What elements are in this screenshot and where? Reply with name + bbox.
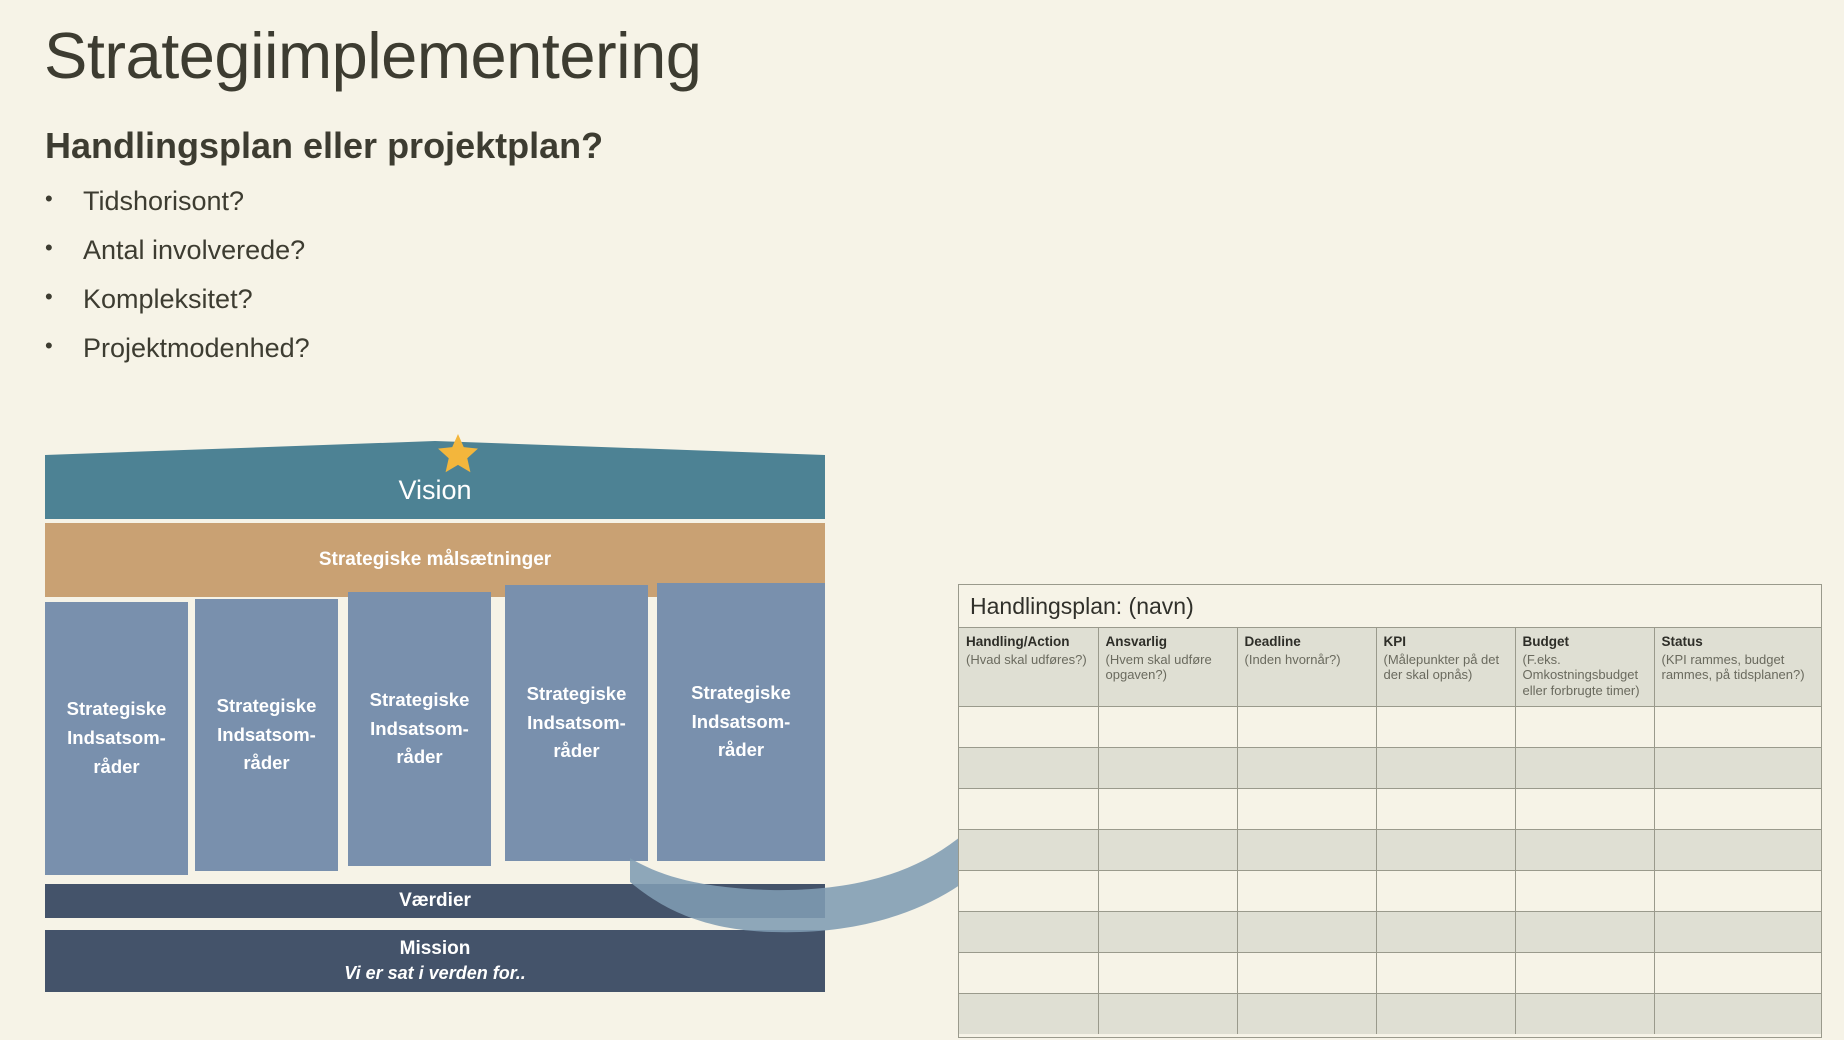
strategy-house-diagram: Vision Strategiske målsætninger Strategi…: [45, 441, 825, 1036]
table-cell[interactable]: [1654, 830, 1821, 871]
list-item-label: Tidshorisont?: [83, 185, 244, 217]
column-title: KPI: [1384, 633, 1509, 651]
table-row[interactable]: [959, 994, 1821, 1035]
mission-subtext: Vi er sat i verden for..: [344, 962, 525, 985]
table-cell[interactable]: [1654, 707, 1821, 748]
table-cell[interactable]: [1237, 994, 1376, 1035]
table-cell[interactable]: [1098, 748, 1237, 789]
pillar-1: StrategiskeIndsatsom-råder: [45, 602, 188, 875]
column-hint: (KPI rammes, budget rammes, på tidsplane…: [1662, 652, 1816, 684]
table-cell[interactable]: [1098, 953, 1237, 994]
table-cell[interactable]: [1515, 994, 1654, 1035]
bullet-marker-icon: •: [45, 332, 83, 360]
table-cell[interactable]: [1515, 953, 1654, 994]
table-cell[interactable]: [1376, 748, 1515, 789]
table-cell[interactable]: [1098, 830, 1237, 871]
table-cell[interactable]: [1654, 994, 1821, 1035]
table-body: [959, 707, 1821, 1035]
bullet-list: • Tidshorisont? • Antal involverede? • K…: [45, 185, 685, 381]
pillar-label: StrategiskeIndsatsom-råder: [370, 686, 470, 772]
table-cell[interactable]: [1237, 789, 1376, 830]
table-cell[interactable]: [1654, 912, 1821, 953]
table-cell[interactable]: [959, 789, 1098, 830]
table-cell[interactable]: [1515, 707, 1654, 748]
table-row[interactable]: [959, 748, 1821, 789]
column-header-handling: Handling/Action (Hvad skal udføres?): [959, 628, 1098, 707]
column-title: Status: [1662, 633, 1816, 651]
mission-label: Mission: [400, 937, 471, 961]
plan-title: Handlingsplan: (navn): [959, 585, 1821, 628]
page-title: Strategiimplementering: [44, 22, 701, 91]
column-header-kpi: KPI (Målepunkter på det der skal opnås): [1376, 628, 1515, 707]
table-cell[interactable]: [1237, 707, 1376, 748]
pillar-5: StrategiskeIndsatsom-råder: [657, 583, 825, 861]
list-item-label: Projektmodenhed?: [83, 332, 310, 364]
column-hint: (Hvem skal udføre opgaven?): [1106, 652, 1231, 684]
table-cell[interactable]: [959, 994, 1098, 1035]
column-title: Deadline: [1245, 633, 1370, 651]
strategic-goals-label: Strategiske målsætninger: [319, 549, 551, 571]
table-cell[interactable]: [1515, 912, 1654, 953]
table-cell[interactable]: [1654, 953, 1821, 994]
table-cell[interactable]: [959, 707, 1098, 748]
pillar-label: StrategiskeIndsatsom-råder: [67, 695, 167, 781]
slide-canvas: Strategiimplementering Handlingsplan ell…: [0, 0, 1844, 1038]
page-subtitle: Handlingsplan eller projektplan?: [45, 125, 603, 167]
table-cell[interactable]: [1237, 748, 1376, 789]
mission-bar: Mission Vi er sat i verden for..: [45, 930, 825, 992]
column-header-ansvarlig: Ansvarlig (Hvem skal udføre opgaven?): [1098, 628, 1237, 707]
table-cell[interactable]: [1376, 789, 1515, 830]
values-label: Værdier: [399, 890, 471, 912]
table-row[interactable]: [959, 707, 1821, 748]
bullet-marker-icon: •: [45, 185, 83, 213]
column-title: Budget: [1523, 633, 1648, 651]
pillar-label: StrategiskeIndsatsom-råder: [527, 680, 627, 766]
table-cell[interactable]: [959, 953, 1098, 994]
list-item-label: Antal involverede?: [83, 234, 305, 266]
column-hint: (Målepunkter på det der skal opnås): [1384, 652, 1509, 684]
column-title: Ansvarlig: [1106, 633, 1231, 651]
pillar-label: StrategiskeIndsatsom-råder: [217, 692, 317, 778]
table-cell[interactable]: [1098, 789, 1237, 830]
table-cell[interactable]: [1515, 871, 1654, 912]
table-cell[interactable]: [1376, 871, 1515, 912]
pillars-group: StrategiskeIndsatsom-råder StrategiskeIn…: [45, 599, 825, 874]
table-cell[interactable]: [1376, 953, 1515, 994]
table-row[interactable]: [959, 912, 1821, 953]
table-cell[interactable]: [1098, 912, 1237, 953]
list-item: • Tidshorisont?: [45, 185, 685, 234]
table-cell[interactable]: [1654, 748, 1821, 789]
star-icon: [437, 433, 479, 475]
table-cell[interactable]: [1237, 871, 1376, 912]
pillar-2: StrategiskeIndsatsom-råder: [195, 599, 338, 871]
table-cell[interactable]: [959, 748, 1098, 789]
column-header-status: Status (KPI rammes, budget rammes, på ti…: [1654, 628, 1821, 707]
table-row[interactable]: [959, 830, 1821, 871]
table-cell[interactable]: [1515, 789, 1654, 830]
action-plan-table-card: Handlingsplan: (navn) Handling/Action (H…: [958, 584, 1822, 1038]
table-row[interactable]: [959, 871, 1821, 912]
column-hint: (F.eks. Omkostningsbudget eller forbrugt…: [1523, 652, 1648, 700]
table-row[interactable]: [959, 953, 1821, 994]
table-cell[interactable]: [959, 871, 1098, 912]
table-cell[interactable]: [1376, 830, 1515, 871]
table-header-row: Handling/Action (Hvad skal udføres?) Ans…: [959, 628, 1821, 707]
list-item: • Antal involverede?: [45, 234, 685, 283]
table-cell[interactable]: [1376, 994, 1515, 1035]
column-header-budget: Budget (F.eks. Omkostningsbudget eller f…: [1515, 628, 1654, 707]
pillar-4: StrategiskeIndsatsom-råder: [505, 585, 648, 861]
table-cell[interactable]: [1098, 871, 1237, 912]
table-cell[interactable]: [1376, 707, 1515, 748]
table-cell[interactable]: [1515, 748, 1654, 789]
table-cell[interactable]: [1654, 789, 1821, 830]
table-cell[interactable]: [1237, 912, 1376, 953]
action-plan-table: Handling/Action (Hvad skal udføres?) Ans…: [959, 628, 1821, 1034]
table-cell[interactable]: [1098, 707, 1237, 748]
table-cell[interactable]: [959, 912, 1098, 953]
column-hint: (Inden hvornår?): [1245, 652, 1370, 668]
table-cell[interactable]: [1237, 830, 1376, 871]
pillar-label: StrategiskeIndsatsom-råder: [691, 679, 791, 765]
bullet-marker-icon: •: [45, 234, 83, 262]
vision-label: Vision: [45, 475, 825, 506]
values-bar: Værdier: [45, 884, 825, 918]
column-header-deadline: Deadline (Inden hvornår?): [1237, 628, 1376, 707]
column-title: Handling/Action: [966, 633, 1092, 651]
bullet-marker-icon: •: [45, 283, 83, 311]
list-item: • Projektmodenhed?: [45, 332, 685, 381]
table-cell[interactable]: [1515, 830, 1654, 871]
pillar-3: StrategiskeIndsatsom-råder: [348, 592, 491, 866]
table-cell[interactable]: [1376, 912, 1515, 953]
column-hint: (Hvad skal udføres?): [966, 652, 1092, 668]
table-cell[interactable]: [1098, 994, 1237, 1035]
list-item-label: Kompleksitet?: [83, 283, 253, 315]
table-cell[interactable]: [1654, 871, 1821, 912]
table-cell[interactable]: [1237, 953, 1376, 994]
list-item: • Kompleksitet?: [45, 283, 685, 332]
table-cell[interactable]: [959, 830, 1098, 871]
table-row[interactable]: [959, 789, 1821, 830]
